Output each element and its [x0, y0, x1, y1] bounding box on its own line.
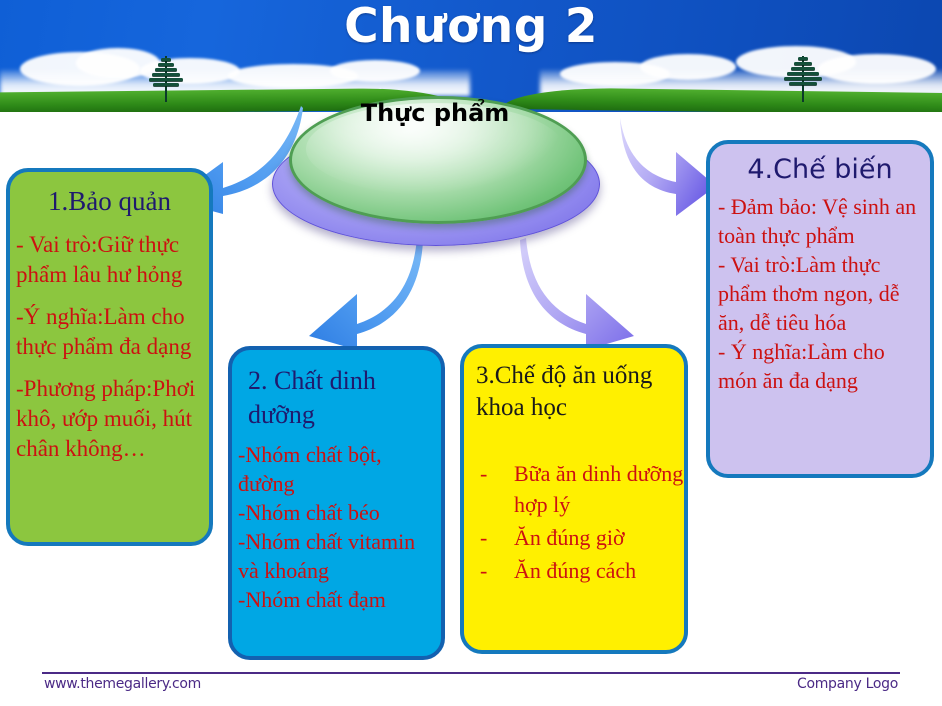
box-1-line: -Ý nghĩa:Làm cho thực phẩm đa dạng — [16, 302, 203, 362]
pine-tree-icon — [165, 56, 167, 102]
box-2-line: -Nhóm chất béo — [238, 498, 437, 527]
arrow-to-box2-icon — [305, 238, 423, 350]
box-1-line: - Vai trò:Giữ thực phẩm lâu hư hỏng — [16, 230, 203, 290]
box-2-line: -Nhóm chất đạm — [238, 585, 437, 614]
box-4-line: - Ý nghĩa:Làm cho món ăn đa dạng — [718, 337, 926, 395]
arrow-to-box4-icon — [620, 112, 720, 218]
box-4-title: 4.Chế biến — [716, 152, 924, 188]
box-2-body: -Nhóm chất bột, đường -Nhóm chất béo -Nh… — [238, 440, 437, 614]
bullet-text: Ăn đúng cách — [514, 555, 684, 586]
box-1-line: -Phương pháp:Phơi khô, ướp muối, hút châ… — [16, 374, 203, 464]
bullet-marker: - — [480, 555, 514, 586]
box-4-line: - Vai trò:Làm thực phẩm thơm ngon, dễ ăn… — [718, 250, 926, 337]
bullet-marker: - — [480, 458, 514, 520]
pine-tree-icon — [802, 56, 804, 102]
arrow-to-box3-icon — [520, 238, 638, 350]
content-box-2-chat-dinh-duong[interactable]: 2. Chất dinh dưỡng -Nhóm chất bột, đường… — [228, 346, 445, 660]
footer-logo-text: Company Logo — [797, 676, 898, 692]
box-4-line: - Đảm bảo: Vệ sinh an toàn thực phẩm — [718, 192, 926, 250]
box-2-line: -Nhóm chất bột, đường — [238, 440, 437, 498]
box-4-body: - Đảm bảo: Vệ sinh an toàn thực phẩm - V… — [718, 192, 926, 395]
bullet-text: Ăn đúng giờ — [514, 522, 684, 553]
box-2-title: 2. Chất dinh dưỡng — [248, 364, 429, 432]
content-box-1-bao-quan[interactable]: 1.Bảo quản - Vai trò:Giữ thực phẩm lâu h… — [6, 168, 213, 546]
list-item: - Ăn đúng giờ — [464, 522, 684, 553]
page-title: Chương 2 — [0, 0, 942, 56]
box-3-title: 3.Chế độ ăn uống khoa học — [476, 360, 676, 424]
bullet-text: Bữa ăn dinh dưỡng hợp lý — [514, 458, 684, 520]
central-node-label: Thực phẩm — [289, 98, 581, 128]
content-box-4-che-bien[interactable]: 4.Chế biến - Đảm bảo: Vệ sinh an toàn th… — [706, 140, 934, 478]
content-box-3-che-do-an-uong[interactable]: 3.Chế độ ăn uống khoa học - Bữa ăn dinh … — [460, 344, 688, 654]
footer-divider — [42, 672, 900, 674]
box-2-line: -Nhóm chất vitamin và khoáng — [238, 527, 437, 585]
central-node: Thực phẩm — [272, 96, 598, 248]
box-1-body: - Vai trò:Giữ thực phẩm lâu hư hỏng -Ý n… — [16, 230, 203, 464]
box-3-bullet-list: - Bữa ăn dinh dưỡng hợp lý - Ăn đúng giờ… — [464, 458, 684, 586]
bullet-marker: - — [480, 522, 514, 553]
list-item: - Bữa ăn dinh dưỡng hợp lý — [464, 458, 684, 520]
list-item: - Ăn đúng cách — [464, 555, 684, 586]
box-1-title: 1.Bảo quản — [20, 184, 199, 218]
footer-url[interactable]: www.themegallery.com — [44, 676, 201, 692]
